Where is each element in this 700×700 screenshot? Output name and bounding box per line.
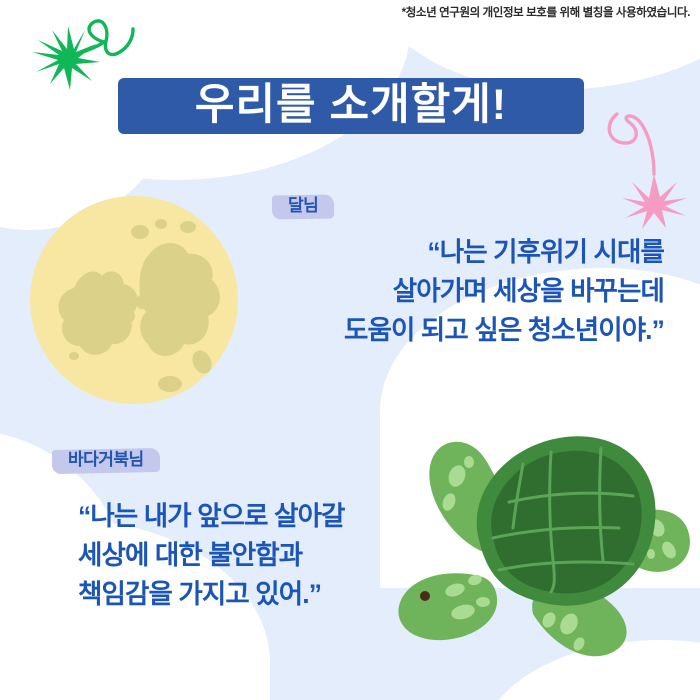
quote-line: 살아가며 세상을 바꾸는데 — [230, 272, 664, 311]
speaker-tag-turtle: 바다거북님 — [52, 447, 160, 474]
quote-line: “나는 내가 앞으로 살아갈 — [78, 497, 408, 536]
title-banner: 우리를 소개할게! — [118, 78, 584, 134]
sea-turtle-icon — [383, 428, 700, 686]
speaker-tag-turtle-label: 바다거북님 — [68, 450, 144, 469]
speaker-tag-moon-label: 달님 — [288, 196, 318, 215]
quote-line: 도움이 되고 싶은 청소년이야.” — [230, 311, 664, 350]
quote-line: 세상에 대한 불안함과 — [78, 536, 408, 575]
quote-line: 책임감을 가지고 있어.” — [78, 575, 408, 614]
quote-turtle: “나는 내가 앞으로 살아갈 세상에 대한 불안함과 책임감을 가지고 있어.” — [78, 497, 408, 615]
pink-sparkle-doodle — [592, 108, 700, 230]
moon-icon — [30, 196, 238, 404]
privacy-note: *청소년 연구원의 개인정보 보호를 위해 별칭을 사용하였습니다. — [402, 4, 690, 20]
quote-moon: “나는 기후위기 시대를 살아가며 세상을 바꾸는데 도움이 되고 싶은 청소년… — [230, 233, 664, 351]
quote-line: “나는 기후위기 시대를 — [230, 233, 664, 272]
speaker-tag-moon: 달님 — [272, 193, 334, 220]
page-title: 우리를 소개할게! — [195, 84, 507, 127]
poster-canvas: *청소년 연구원의 개인정보 보호를 위해 별칭을 사용하였습니다. 우리를 소… — [0, 0, 700, 700]
